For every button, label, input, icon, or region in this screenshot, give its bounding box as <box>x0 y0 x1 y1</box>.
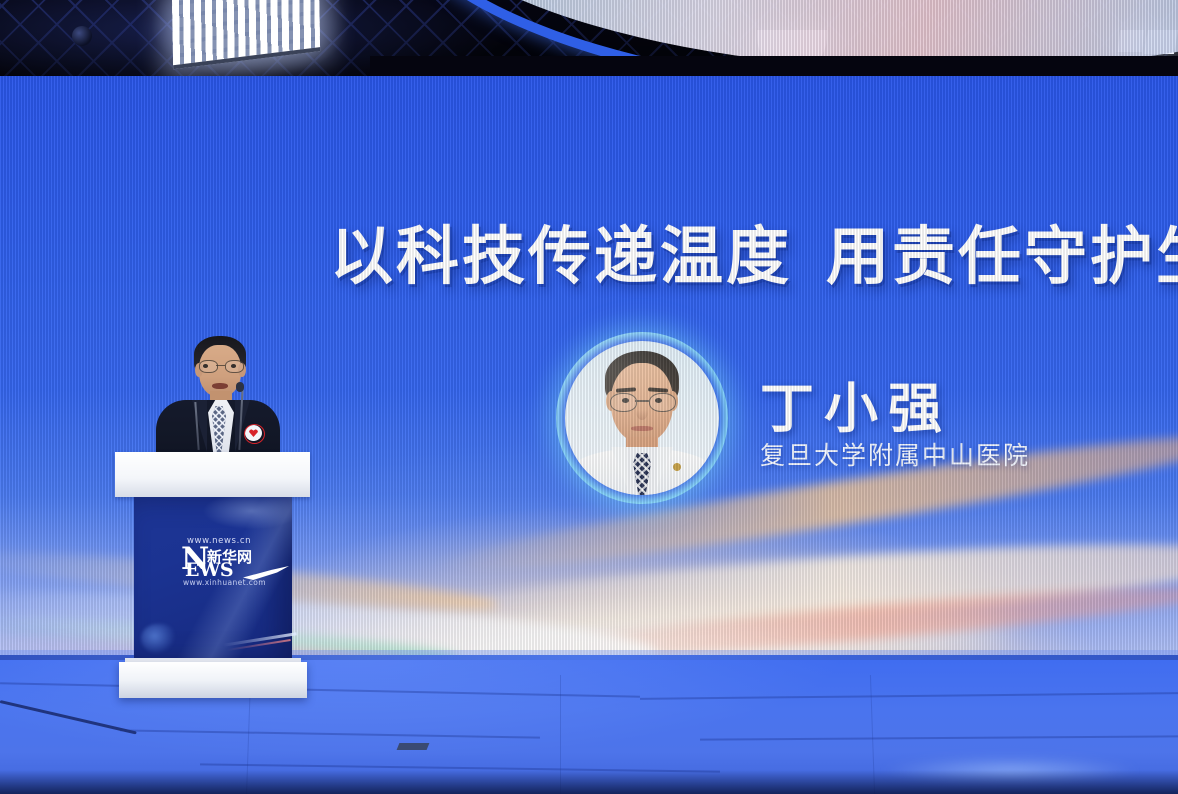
speaker-at-podium <box>148 336 288 466</box>
microphone-head <box>236 382 244 392</box>
speaker-lens-left <box>199 360 218 373</box>
speaker-affiliation: 复旦大学附属中山医院 <box>760 436 1030 472</box>
headline-phrase-2: 用责任守护生命 <box>826 219 1178 293</box>
glasses-lens-right <box>649 393 676 412</box>
portrait-mouth <box>631 426 653 431</box>
logo-chinese-name: 新华网 <box>207 546 252 567</box>
portrait-lapel-pin <box>673 463 681 471</box>
slide-headline: 以科技传递温度用责任守护生命 <box>330 222 1178 290</box>
floor-seam <box>700 735 1178 740</box>
speaker-lens-right <box>225 360 244 373</box>
floor-marker-tape <box>397 743 430 750</box>
speaker-name: 丁小强 <box>760 364 952 443</box>
floor-seam <box>120 729 540 738</box>
stage-scene: 以科技传递温度用责任守护生命 <box>0 0 1178 794</box>
podium-base <box>119 662 307 698</box>
glasses-lens-left <box>610 393 637 412</box>
floor-front-shadow <box>0 770 1178 794</box>
floor-seam <box>0 682 640 697</box>
speaker-glasses-bridge <box>216 365 225 366</box>
xinhua-logo: www.news.cn N EWS 新华网 www.xinhuanet.com <box>181 536 289 587</box>
podium-reflection-blob <box>141 624 175 654</box>
speaker-mouth <box>212 383 228 389</box>
logo-wordmark: N EWS 新华网 <box>181 546 289 576</box>
speaker-glasses-icon <box>198 360 243 372</box>
podium-top-surface <box>115 452 310 497</box>
avatar <box>565 341 719 495</box>
speaker-portrait <box>556 332 728 504</box>
logo-url-bottom: www.xinhuanet.com <box>183 578 289 587</box>
floor-seam <box>640 692 1178 700</box>
ceiling-fixture-knob <box>72 26 92 46</box>
headline-phrase-1: 以科技传递温度 <box>330 219 792 293</box>
portrait-collar-left <box>611 447 627 487</box>
glasses-bridge <box>635 400 649 402</box>
portrait-nose <box>636 403 648 420</box>
portrait-collar-right <box>657 447 673 487</box>
